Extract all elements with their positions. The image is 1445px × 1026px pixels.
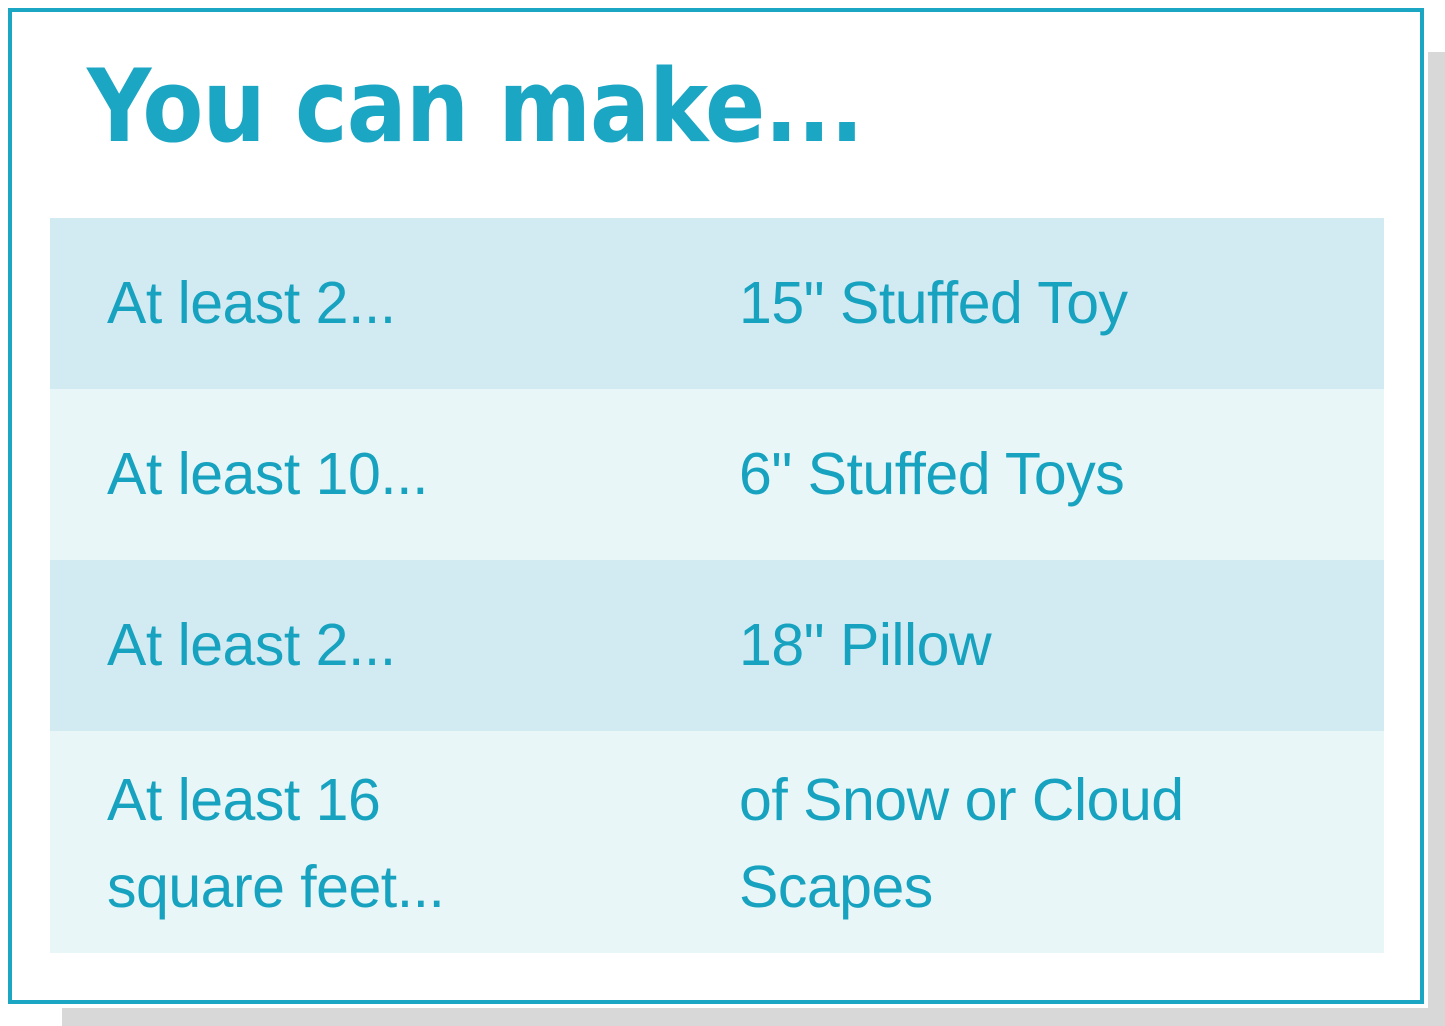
item-cell: 15" Stuffed Toy — [682, 218, 1384, 389]
table-row: At least 16 square feet... of Snow or Cl… — [50, 731, 1384, 953]
table-body: At least 2... 15" Stuffed Toy At least 1… — [50, 218, 1384, 953]
infographic-card-stage: You can make... At least 2... 15" Stuffe… — [0, 0, 1445, 1026]
table-row: At least 2... 15" Stuffed Toy — [50, 218, 1384, 389]
table-row: At least 2... 18" Pillow — [50, 560, 1384, 731]
quantity-cell: At least 16 square feet... — [50, 731, 682, 953]
item-cell: of Snow or Cloud Scapes — [682, 731, 1384, 953]
infographic-card: You can make... At least 2... 15" Stuffe… — [8, 8, 1424, 1004]
quantity-cell: At least 2... — [50, 560, 682, 731]
item-cell: 18" Pillow — [682, 560, 1384, 731]
you-can-make-table: At least 2... 15" Stuffed Toy At least 1… — [50, 218, 1384, 953]
card-shadow-bottom — [62, 1008, 1445, 1026]
page-title: You can make... — [87, 56, 863, 157]
table-row: At least 10... 6" Stuffed Toys — [50, 389, 1384, 560]
quantity-cell: At least 2... — [50, 218, 682, 389]
quantity-cell: At least 10... — [50, 389, 682, 560]
item-cell: 6" Stuffed Toys — [682, 389, 1384, 560]
card-shadow-right — [1428, 52, 1445, 1026]
